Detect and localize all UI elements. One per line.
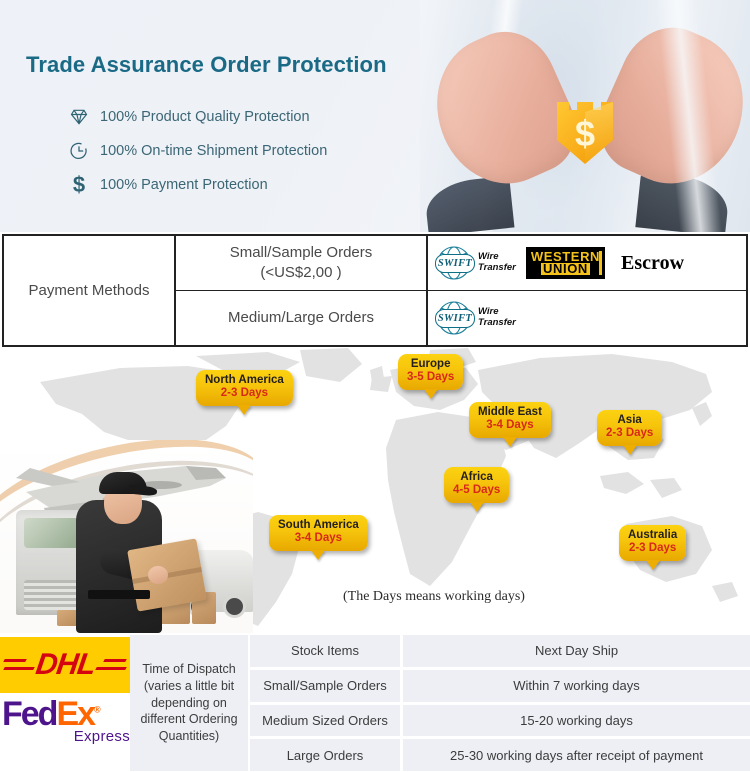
dispatch-lead-time: Next Day Ship	[403, 635, 750, 667]
fedex-logo: FedEx® Express	[2, 699, 130, 761]
wu-line-2: UNION	[541, 263, 590, 275]
courier-cap	[99, 472, 147, 494]
dispatch-lead-time: Within 7 working days	[403, 670, 750, 702]
callout-days: 3-5 Days	[407, 371, 454, 385]
callout-days: 2-3 Days	[205, 387, 284, 401]
callout-region: Africa	[453, 471, 500, 484]
list-item: 100% Product Quality Protection	[66, 100, 466, 134]
wire-transfer-label: Wire Transfer	[478, 307, 516, 329]
payment-logos-cell: SWIFT Wire Transfer WESTERN UNION Escrow	[428, 236, 746, 290]
callout-south-america[interactable]: South America 3-4 Days	[269, 515, 368, 551]
globe-icon: SWIFT	[434, 298, 474, 338]
callout-north-america[interactable]: North America 2-3 Days	[196, 370, 293, 406]
callout-days: 3-4 Days	[478, 419, 542, 433]
list-item: $ 100% Payment Protection	[66, 168, 466, 202]
dispatch-section: DHL FedEx® Express Time of Dispatch (var…	[0, 633, 750, 772]
fedex-wordmark: FedEx®	[2, 699, 130, 730]
dispatch-order-type: Stock Items	[250, 635, 400, 667]
list-item: 100% On-time Shipment Protection	[66, 134, 466, 168]
list-item-label: 100% Payment Protection	[100, 177, 268, 193]
dispatch-order-type: Small/Sample Orders	[250, 670, 400, 702]
payment-methods-table: Payment Methods Small/Sample Orders (<US…	[2, 234, 748, 347]
callout-asia[interactable]: Asia 2-3 Days	[597, 410, 662, 446]
dhl-stripe-left-2	[3, 667, 35, 670]
registered-mark-icon: ®	[94, 705, 99, 715]
hero-background-photo: $	[420, 0, 750, 232]
globe-icon: SWIFT	[434, 243, 474, 283]
escrow-logo: Escrow	[621, 252, 684, 275]
dhl-wordmark: DHL	[33, 648, 96, 682]
dhl-logo: DHL	[0, 637, 130, 693]
callout-region: Australia	[628, 529, 677, 542]
dispatch-lead-time: 25-30 working days after receipt of paym…	[403, 739, 750, 771]
order-type-line1: Medium/Large Orders	[228, 308, 374, 328]
fedex-fed: Fed	[2, 695, 56, 733]
table-row: Medium/Large Orders SWIFT	[176, 291, 746, 345]
callout-australia[interactable]: Australia 2-3 Days	[619, 525, 686, 561]
page-title: Trade Assurance Order Protection	[26, 52, 387, 78]
swift-wordmark: SWIFT	[435, 254, 475, 273]
callout-days: 2-3 Days	[606, 427, 653, 441]
order-type-cell: Medium/Large Orders	[176, 291, 428, 345]
callout-region: Asia	[606, 414, 653, 427]
payment-logos-cell: SWIFT Wire Transfer	[428, 291, 746, 345]
order-type-cell: Small/Sample Orders (<US$2,00 )	[176, 236, 428, 290]
dhl-stripe-left-1	[3, 659, 27, 662]
wire-line-2: Transfer	[478, 262, 516, 273]
callout-europe[interactable]: Europe 3-5 Days	[398, 354, 463, 390]
swift-wire-transfer-logo: SWIFT Wire Transfer	[434, 243, 516, 283]
dispatch-label: Time of Dispatch (varies a little bit de…	[130, 635, 248, 771]
courier-illustration	[0, 440, 253, 633]
dispatch-time-table: Time of Dispatch (varies a little bit de…	[130, 635, 750, 771]
wire-transfer-label: Wire Transfer	[478, 252, 516, 274]
dhl-stripe-right-2	[95, 667, 127, 670]
dispatch-lead-time: 15-20 working days	[403, 705, 750, 737]
hero-section: $ Trade Assurance Order Protection 100% …	[0, 0, 750, 232]
western-union-logo: WESTERN UNION	[526, 247, 605, 280]
callout-region: North America	[205, 374, 284, 387]
svg-text:$: $	[575, 113, 595, 154]
dollar-shield-icon: $	[553, 96, 617, 168]
clock-icon	[66, 138, 92, 164]
dhl-stripe-right-1	[103, 659, 127, 662]
payment-methods-label: Payment Methods	[4, 236, 176, 345]
wire-line-1: Wire	[478, 306, 499, 317]
table-row: Medium Sized Orders 15-20 working days	[250, 705, 750, 737]
swift-wire-transfer-logo: SWIFT Wire Transfer	[434, 298, 516, 338]
list-item-label: 100% Product Quality Protection	[100, 109, 310, 125]
callout-region: South America	[278, 519, 359, 532]
map-footnote: (The Days means working days)	[343, 589, 525, 605]
table-row: Small/Sample Orders (<US$2,00 ) SWIF	[176, 236, 746, 291]
payment-methods-rows: Small/Sample Orders (<US$2,00 ) SWIF	[176, 236, 746, 345]
wire-line-1: Wire	[478, 251, 499, 262]
wire-line-2: Transfer	[478, 317, 516, 328]
list-item-label: 100% On-time Shipment Protection	[100, 143, 327, 159]
van-wheel-rear	[223, 595, 246, 618]
table-row: Stock Items Next Day Ship	[250, 635, 750, 667]
dollar-icon: $	[66, 172, 92, 198]
dispatch-rows: Stock Items Next Day Ship Small/Sample O…	[250, 635, 750, 771]
trade-assurance-banner: $ Trade Assurance Order Protection 100% …	[0, 0, 750, 772]
diamond-icon	[66, 104, 92, 130]
callout-days: 2-3 Days	[628, 542, 677, 556]
callout-region: Europe	[407, 358, 454, 371]
callout-africa[interactable]: Africa 4-5 Days	[444, 467, 509, 503]
shoulder-right	[635, 171, 730, 232]
courier-belt	[88, 590, 150, 599]
dispatch-order-type: Large Orders	[250, 739, 400, 771]
order-type-line2: (<US$2,00 )	[260, 263, 341, 283]
courier-hand	[148, 566, 168, 584]
dispatch-order-type: Medium Sized Orders	[250, 705, 400, 737]
swift-wordmark: SWIFT	[435, 309, 475, 328]
callout-days: 4-5 Days	[453, 484, 500, 498]
wu-accent-bar	[599, 251, 602, 276]
callout-region: Middle East	[478, 406, 542, 419]
table-row: Large Orders 25-30 working days after re…	[250, 739, 750, 771]
callout-middle-east[interactable]: Middle East 3-4 Days	[469, 402, 551, 438]
table-row: Small/Sample Orders Within 7 working day…	[250, 670, 750, 702]
order-type-line1: Small/Sample Orders	[230, 243, 373, 263]
callout-days: 3-4 Days	[278, 532, 359, 546]
protection-list: 100% Product Quality Protection 100% On-…	[66, 100, 466, 202]
